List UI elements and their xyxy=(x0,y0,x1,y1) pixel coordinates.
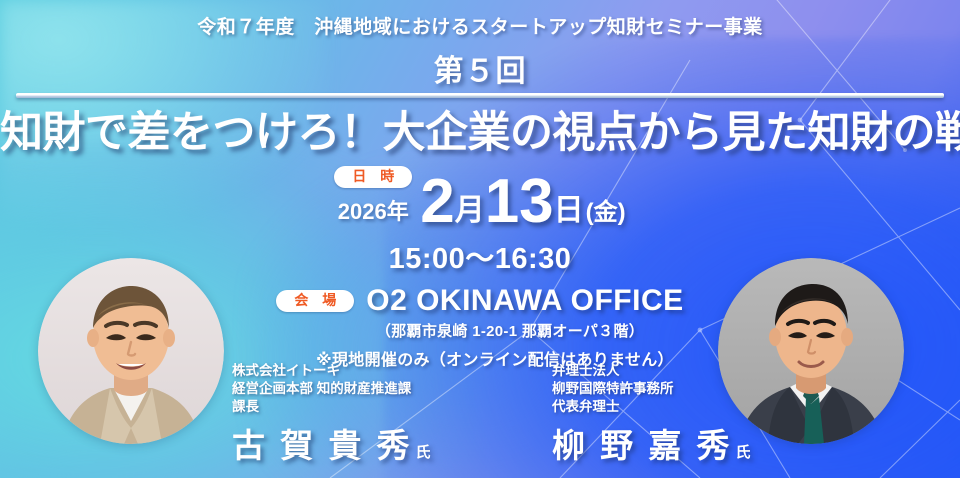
venue-row: 会 場 O2 OKINAWA OFFICE xyxy=(0,284,960,318)
event-month-number: 2 xyxy=(420,173,454,230)
venue-badge: 会 場 xyxy=(276,290,354,313)
speaker-right-org-line3: 代表弁理士 xyxy=(552,398,751,416)
program-title: 令和７年度 沖縄地域におけるスタートアップ知財セミナー事業 xyxy=(0,12,960,39)
venue-note: ※現地開催のみ（オンライン配信はありません） xyxy=(0,346,960,370)
speaker-left-org-line1: 株式会社イトーキ xyxy=(232,362,431,380)
speaker-right-name-text: 柳 野 嘉 秀 xyxy=(552,427,733,464)
event-time-range: 15:00〜16:30 xyxy=(389,243,572,275)
speaker-left-name-suffix: 氏 xyxy=(416,444,431,461)
event-day-of-week: (金) xyxy=(586,201,626,230)
time-row: 15:00〜16:30 xyxy=(0,235,960,277)
event-day-number: 13 xyxy=(485,173,554,230)
speaker-right-name-suffix: 氏 xyxy=(736,444,751,461)
page-title: 知財で差をつけろ！大企業の視点から見た知財の戦略性 xyxy=(0,98,960,160)
speaker-left: 株式会社イトーキ 経営企画本部 知的財産推進課 課長 古 賀 貴 秀氏 xyxy=(232,362,431,467)
seminar-banner: 令和７年度 沖縄地域におけるスタートアップ知財セミナー事業 第５回 知財で差をつ… xyxy=(0,0,960,478)
event-info: 日 時 2026年 2 月 13 日 (金) 15:00〜16:30 会 場 O… xyxy=(0,168,960,370)
speaker-left-name: 古 賀 貴 秀氏 xyxy=(232,419,431,467)
speaker-right-org-line2: 柳野国際特許事務所 xyxy=(552,380,751,398)
speaker-right-org-line1: 弁理士法人 xyxy=(552,362,751,380)
speaker-right: 弁理士法人 柳野国際特許事務所 代表弁理士 柳 野 嘉 秀氏 xyxy=(552,362,751,467)
issue-number: 第５回 xyxy=(0,46,960,90)
event-year: 2026年 xyxy=(338,194,409,226)
speaker-left-name-text: 古 賀 貴 秀 xyxy=(232,427,413,464)
date-row: 日 時 2026年 2 月 13 日 (金) xyxy=(0,168,960,230)
speaker-right-name: 柳 野 嘉 秀氏 xyxy=(552,419,751,467)
date-left-column: 日 時 2026年 xyxy=(334,166,412,231)
venue-name: O2 OKINAWA OFFICE xyxy=(366,284,683,318)
speaker-left-org-line2: 経営企画本部 知的財産推進課 xyxy=(232,380,431,398)
speaker-left-org-line3: 課長 xyxy=(232,398,431,416)
datetime-badge: 日 時 xyxy=(334,166,412,189)
venue-address: （那覇市泉崎 1-20-1 那覇オーパ３階） xyxy=(0,320,960,341)
event-month-unit: 月 xyxy=(455,196,485,230)
event-day-unit: 日 xyxy=(554,196,584,230)
